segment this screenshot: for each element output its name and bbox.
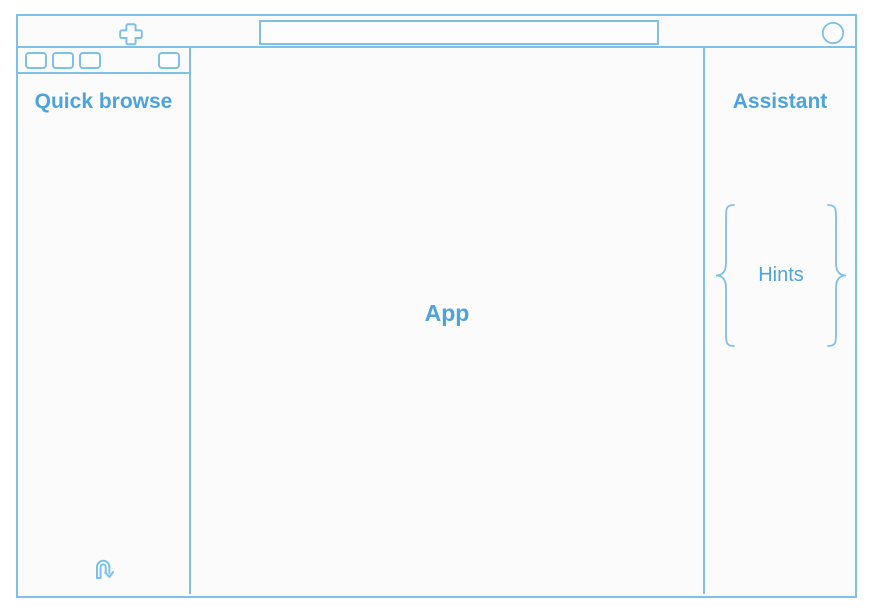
account-button[interactable] [821,21,845,45]
curly-brace-right-icon [823,203,849,348]
top-bar [16,14,857,48]
search-input[interactable] [259,20,659,45]
assistant-panel: Assistant Hints [705,48,855,594]
sidebar-footer [18,550,189,590]
add-button[interactable] [114,22,148,46]
sidebar-quick-browse: Quick browse [18,48,191,594]
wireframe-window: Quick browse App Assistant [16,14,857,598]
main-app-area[interactable]: App [191,48,705,594]
sidebar-back-button[interactable] [90,554,120,584]
sidebar-tool-button-4[interactable] [158,52,180,69]
main-app-label: App [425,300,470,327]
sidebar-tool-button-1[interactable] [25,52,47,69]
window-body: Quick browse App Assistant [16,48,857,598]
assistant-hints-block: Hints [717,203,845,348]
plus-icon [118,21,144,47]
sidebar-tool-button-3[interactable] [79,52,101,69]
curly-brace-right [823,203,849,348]
assistant-title: Assistant [705,88,855,115]
u-turn-arrow-icon [90,554,120,584]
sidebar-toolbar [18,48,189,74]
sidebar-tool-button-2[interactable] [52,52,74,69]
sidebar-title: Quick browse [18,88,189,115]
account-circle-icon [821,21,845,45]
